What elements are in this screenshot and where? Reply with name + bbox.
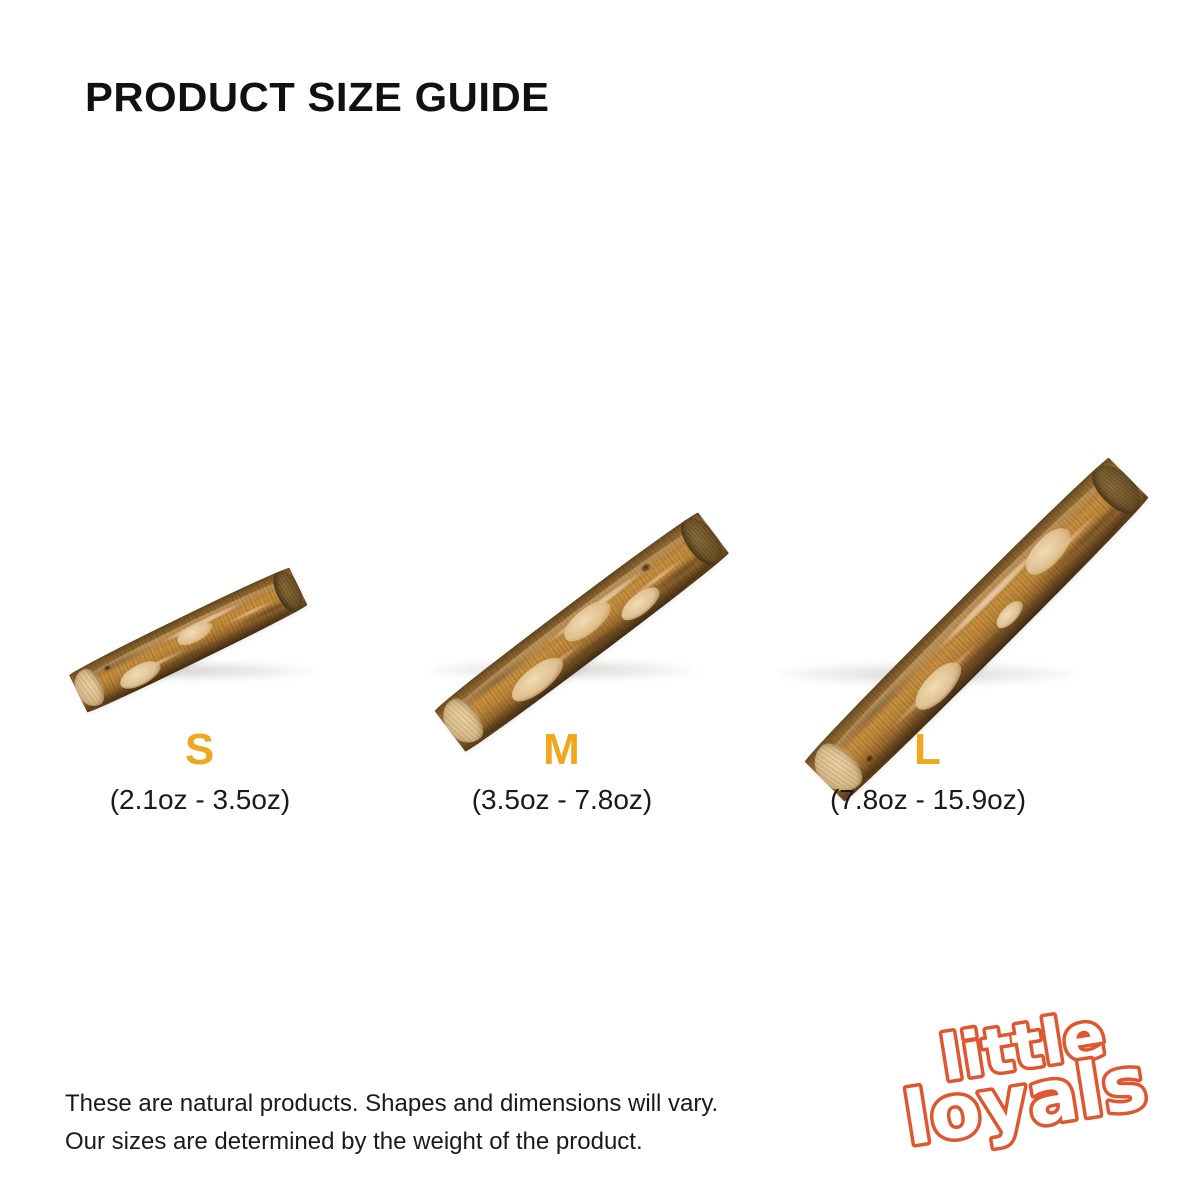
disclaimer-line-1: These are natural products. Shapes and d… — [65, 1085, 718, 1123]
wood-knot — [1018, 521, 1078, 581]
product-image-small — [60, 415, 380, 675]
size-letter-small: S — [70, 728, 330, 772]
product-image-medium — [420, 345, 750, 675]
cut-end-small — [69, 665, 110, 712]
wood-knot — [505, 651, 570, 708]
brand-logo: little loyals — [900, 1000, 1150, 1160]
product-image-large — [770, 260, 1150, 680]
wood-knot — [992, 597, 1027, 632]
size-range-small: (2.1oz - 3.5oz) — [70, 786, 330, 814]
bark-knot — [640, 562, 652, 574]
disclaimer-text: These are natural products. Shapes and d… — [65, 1085, 718, 1161]
wood-knot — [908, 656, 969, 717]
size-label-large: L (7.8oz - 15.9oz) — [798, 728, 1058, 814]
wood-knot — [174, 618, 216, 650]
wood-knot — [116, 657, 164, 694]
size-label-small: S (2.1oz - 3.5oz) — [70, 728, 330, 814]
brand-logo-svg: little loyals — [900, 1000, 1150, 1160]
stick-rotation-small — [68, 565, 309, 715]
logo-word-loyals: loyals — [900, 1040, 1150, 1160]
size-letter-medium: M — [432, 728, 692, 772]
stick-rotation-medium — [432, 509, 730, 754]
size-label-medium: M (3.5oz - 7.8oz) — [432, 728, 692, 814]
far-end-medium — [674, 511, 730, 572]
size-range-medium: (3.5oz - 7.8oz) — [432, 786, 692, 814]
wood-knot — [557, 594, 616, 647]
bark-knot — [103, 665, 111, 673]
disclaimer-line-2: Our sizes are determined by the weight o… — [65, 1123, 718, 1161]
page-title: PRODUCT SIZE GUIDE — [85, 74, 550, 121]
far-end-small — [268, 566, 308, 615]
far-end-large — [1084, 456, 1150, 522]
product-image-group — [0, 250, 1200, 710]
wood-knot — [616, 582, 665, 626]
stick-body-medium — [432, 509, 730, 754]
size-range-large: (7.8oz - 15.9oz) — [798, 786, 1058, 814]
size-letter-large: L — [798, 728, 1058, 772]
stick-body-small — [68, 565, 309, 715]
